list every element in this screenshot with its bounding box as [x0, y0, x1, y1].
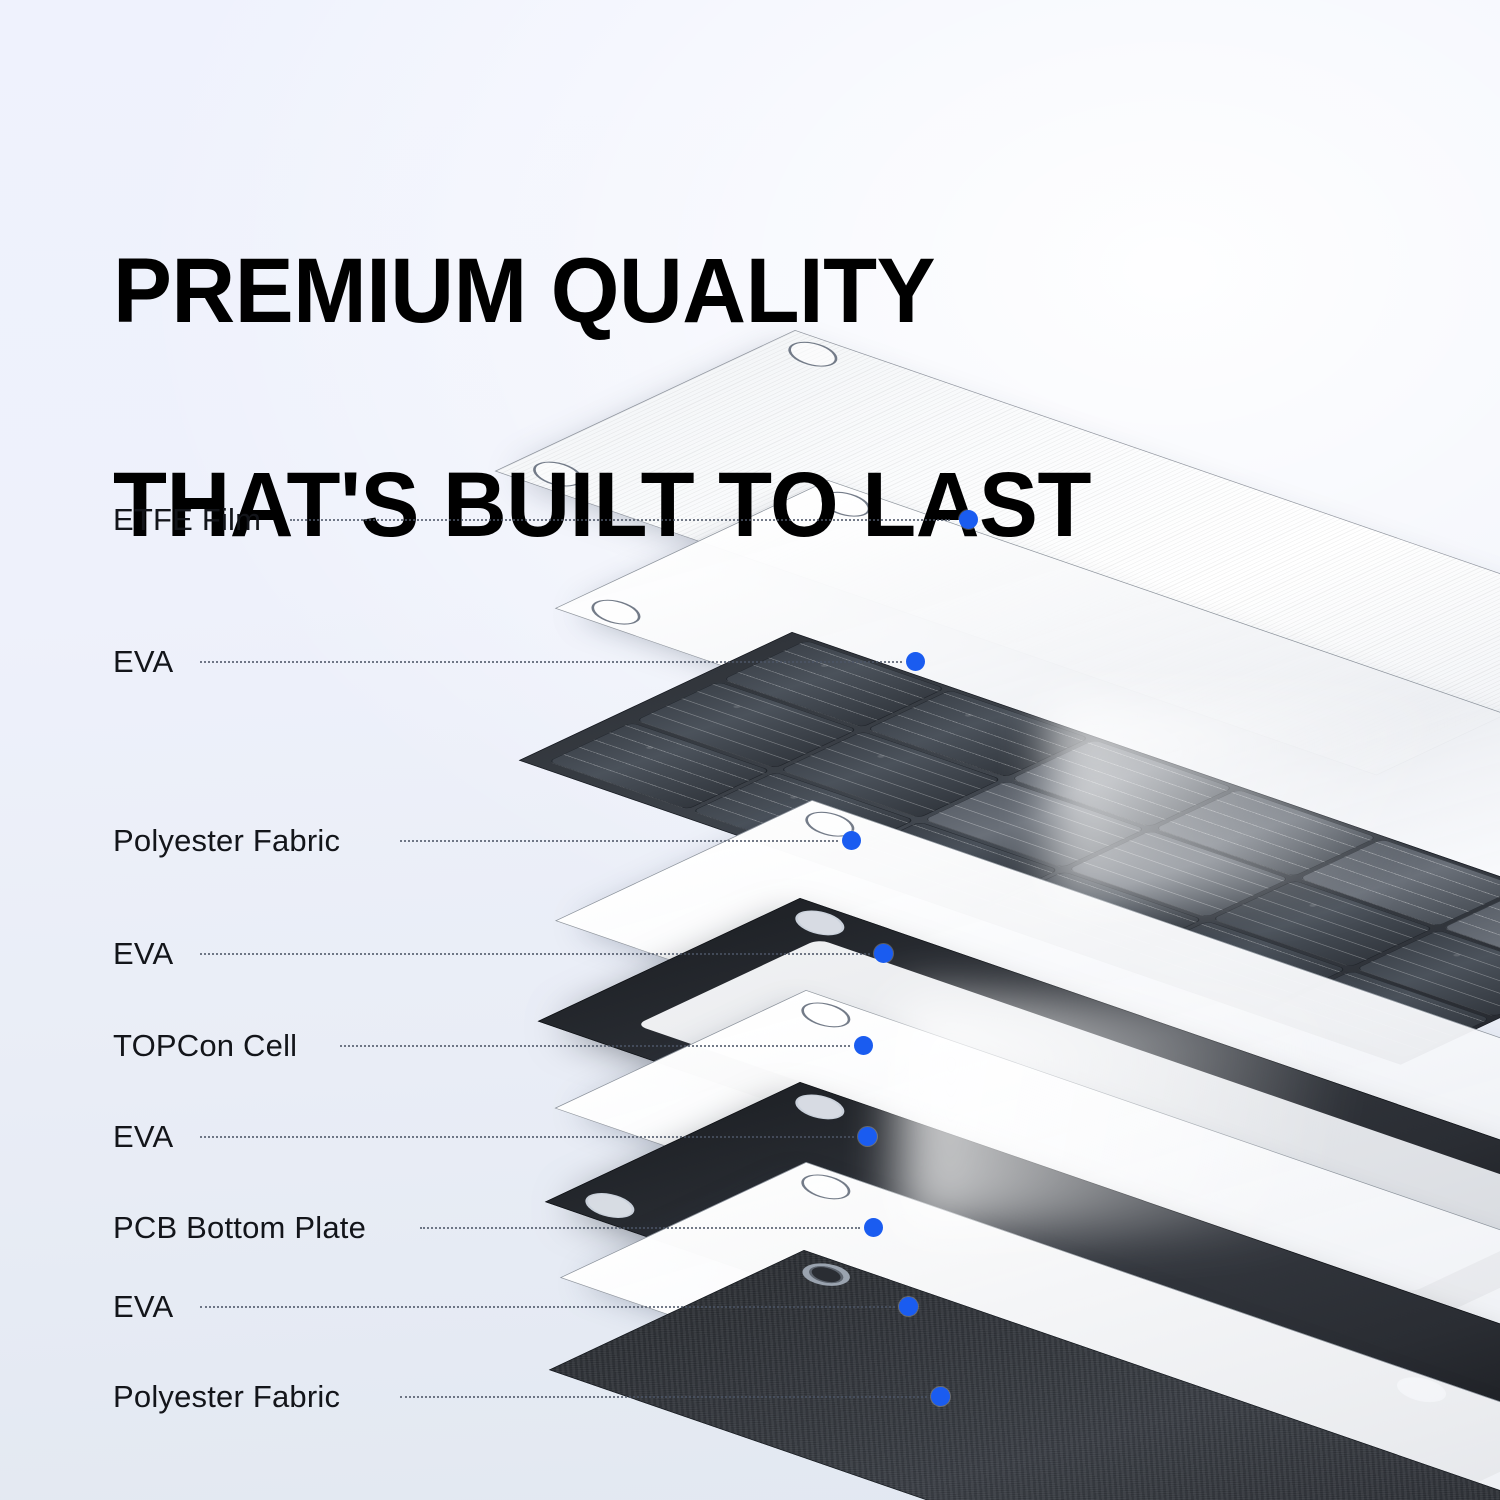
- callout-marker-dot[interactable]: [864, 1218, 883, 1237]
- callout-marker-dot[interactable]: [959, 510, 978, 529]
- callout-label: Polyester Fabric: [113, 821, 340, 861]
- callout-row: EVA: [0, 934, 1500, 974]
- callout-row: EVA: [0, 642, 1500, 682]
- callout-leader-line: [400, 1396, 927, 1398]
- metal-eyelet: [793, 1260, 859, 1290]
- callout-marker-dot[interactable]: [931, 1387, 950, 1406]
- callout-label: EVA: [113, 642, 173, 682]
- callout-label: EVA: [113, 1117, 173, 1157]
- callout-row: PCB Bottom Plate: [0, 1208, 1500, 1248]
- callout-row: EVA: [0, 1287, 1500, 1327]
- callout-marker-dot[interactable]: [858, 1127, 877, 1146]
- solar-cell: [779, 731, 1003, 819]
- grommet-hole: [791, 1171, 860, 1203]
- callout-leader-line: [400, 840, 838, 842]
- callout-row: EVA: [0, 1117, 1500, 1157]
- callout-leader-line: [290, 519, 950, 521]
- callout-row: Polyester Fabric: [0, 821, 1500, 861]
- callout-label: EVA: [113, 1287, 173, 1327]
- callout-leader-line: [200, 1306, 895, 1308]
- solar-cell: [635, 681, 859, 769]
- callout-row: ETFE Film: [0, 500, 1500, 540]
- solar-cell: [866, 690, 1090, 778]
- callout-leader-line: [420, 1227, 860, 1229]
- callout-marker-dot[interactable]: [842, 831, 861, 850]
- callout-leader-line: [200, 661, 902, 663]
- callout-leader-line: [200, 953, 870, 955]
- callout-row: TOPCon Cell: [0, 1026, 1500, 1066]
- callout-label: EVA: [113, 934, 173, 974]
- callout-row: Polyester Fabric: [0, 1377, 1500, 1417]
- solar-cell: [1010, 739, 1234, 827]
- callout-marker-dot[interactable]: [854, 1036, 873, 1055]
- poster-canvas: PREMIUM QUALITY THAT'S BUILT TO LAST ETF…: [0, 0, 1500, 1500]
- page-title: PREMIUM QUALITY THAT'S BUILT TO LAST: [113, 131, 1361, 666]
- page-title-line-1: PREMIUM QUALITY: [113, 238, 1361, 345]
- callout-marker-dot[interactable]: [874, 944, 893, 963]
- callout-label: TOPCon Cell: [113, 1026, 297, 1066]
- solar-cell: [547, 722, 771, 810]
- callout-label: Polyester Fabric: [113, 1377, 340, 1417]
- callout-marker-dot[interactable]: [906, 652, 925, 671]
- callout-label: PCB Bottom Plate: [113, 1208, 366, 1248]
- callout-label: ETFE Film: [113, 500, 261, 540]
- callout-leader-line: [200, 1136, 854, 1138]
- highlight-sweep: [1050, 700, 1500, 900]
- callout-leader-line: [340, 1045, 850, 1047]
- layer-eva-4: [555, 800, 1500, 1225]
- callout-marker-dot[interactable]: [899, 1297, 918, 1316]
